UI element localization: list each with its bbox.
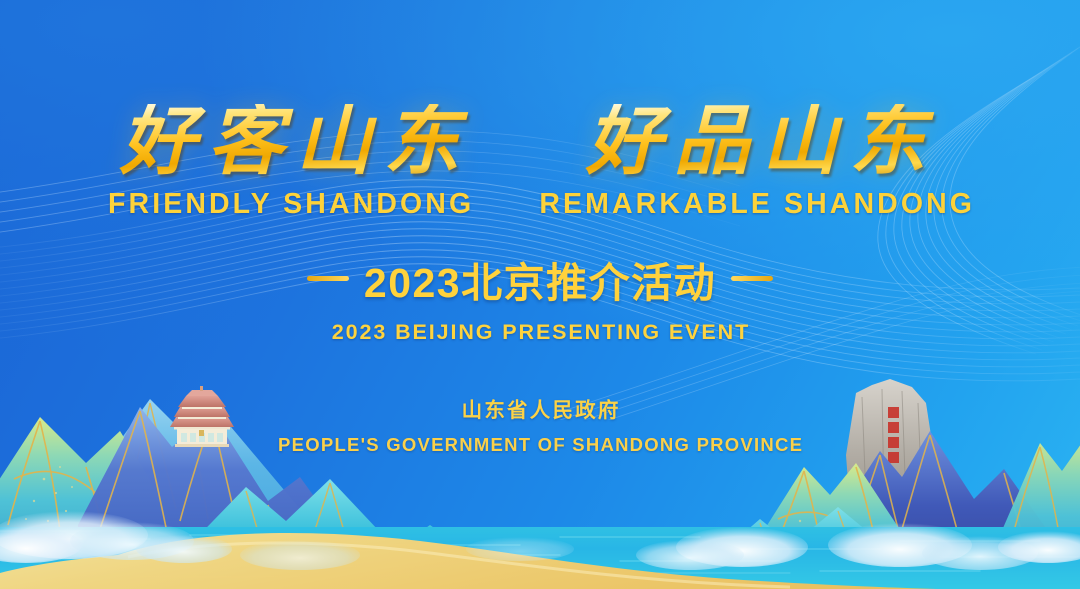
- organizer-cn: 山东省人民政府: [459, 393, 620, 423]
- headline-right-en: REMARKABLE SHANDONG: [536, 188, 975, 221]
- event-title-row: 2023北京推介活动: [307, 249, 773, 309]
- pagoda-icon: [170, 386, 234, 447]
- dash-left-icon: [307, 276, 349, 281]
- headline-row: 好客山东 FRIENDLY SHANDONG 好品山东 REMARKABLE S…: [105, 104, 975, 221]
- headline-right-cn: 好品山东: [574, 104, 938, 182]
- event-title-cn: 2023北京推介活动: [364, 249, 716, 309]
- event-title-en: 2023 BEIJING PRESENTING EVENT: [330, 320, 750, 345]
- headline-left: 好客山东 FRIENDLY SHANDONG: [105, 104, 474, 221]
- organizer-en: PEOPLE'S GOVERNMENT OF SHANDONG PROVINCE: [277, 434, 803, 456]
- headline-left-en: FRIENDLY SHANDONG: [105, 188, 474, 221]
- headline-left-cn: 好客山东: [108, 104, 472, 182]
- dash-right-icon: [731, 276, 773, 281]
- organizer-block: 山东省人民政府 PEOPLE'S GOVERNMENT OF SHANDONG …: [277, 393, 803, 456]
- headline-right: 好品山东 REMARKABLE SHANDONG: [536, 104, 975, 221]
- promotional-banner: 好客山东 FRIENDLY SHANDONG 好品山东 REMARKABLE S…: [0, 0, 1080, 589]
